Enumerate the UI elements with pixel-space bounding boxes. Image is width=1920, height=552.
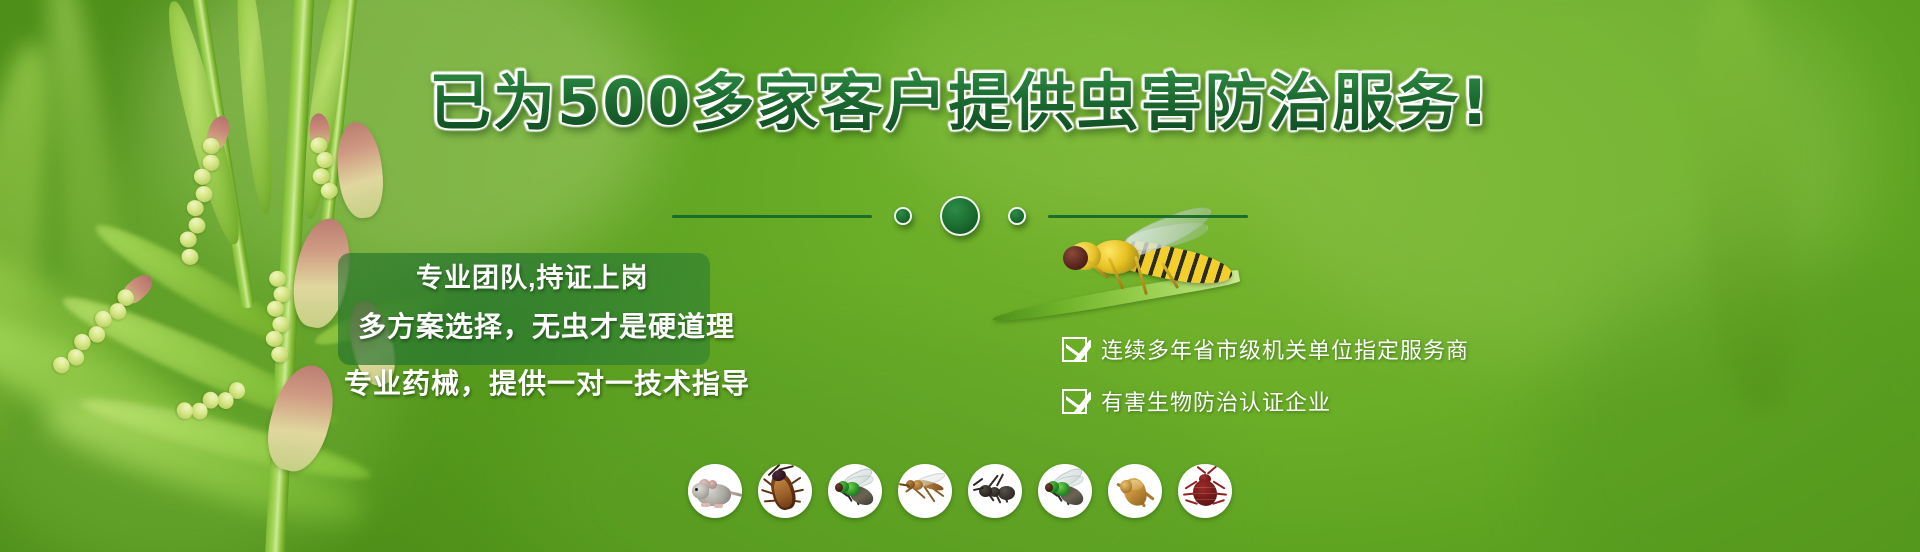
decorative-divider <box>0 196 1920 236</box>
ant-icon[interactable] <box>968 464 1022 518</box>
divider-dot-large <box>940 196 980 236</box>
feature-line-1: 专业团队,持证上岗 <box>300 258 1040 298</box>
hoverfly-icon <box>1063 228 1243 300</box>
banner-headline: 已为500多家客户提供虫害防治服务! <box>429 70 1491 137</box>
pest-icon-row <box>0 464 1920 518</box>
mosquito-icon[interactable] <box>898 464 952 518</box>
pest-control-banner: 已为500多家客户提供虫害防治服务! 专业团队,持证上岗 多方案选择，无虫才是硬… <box>0 0 1920 552</box>
feature-line-3: 专业药械，提供一对一技术指导 <box>300 356 1040 412</box>
flea-icon[interactable] <box>1108 464 1162 518</box>
divider-line-left <box>672 215 872 218</box>
list-item: 有害生物防治认证企业 <box>1062 385 1622 417</box>
bedbug-icon[interactable] <box>1178 464 1232 518</box>
feature-text-lines: 专业团队,持证上岗 多方案选择，无虫才是硬道理 专业药械，提供一对一技术指导 <box>300 258 1040 412</box>
fly-icon[interactable] <box>828 464 882 518</box>
credential-label: 连续多年省市级机关单位指定服务商 <box>1101 333 1469 365</box>
list-item: 连续多年省市级机关单位指定服务商 <box>1062 333 1622 365</box>
credential-label: 有害生物防治认证企业 <box>1101 385 1331 417</box>
divider-dot-small-right <box>1008 207 1026 225</box>
feature-line-2: 多方案选择，无虫才是硬道理 <box>300 298 1040 356</box>
cockroach-icon[interactable] <box>758 464 812 518</box>
checkmark-icon <box>1062 337 1087 362</box>
credential-list: 连续多年省市级机关单位指定服务商 有害生物防治认证企业 <box>1062 333 1622 437</box>
checkmark-icon <box>1062 389 1087 414</box>
headline-container: 已为500多家客户提供虫害防治服务! <box>0 70 1920 137</box>
bottlefly-icon[interactable] <box>1038 464 1092 518</box>
hoverfly-on-grass-image <box>1005 228 1255 338</box>
divider-dot-small-left <box>894 207 912 225</box>
divider-line-right <box>1048 215 1248 218</box>
mouse-icon[interactable] <box>688 464 742 518</box>
